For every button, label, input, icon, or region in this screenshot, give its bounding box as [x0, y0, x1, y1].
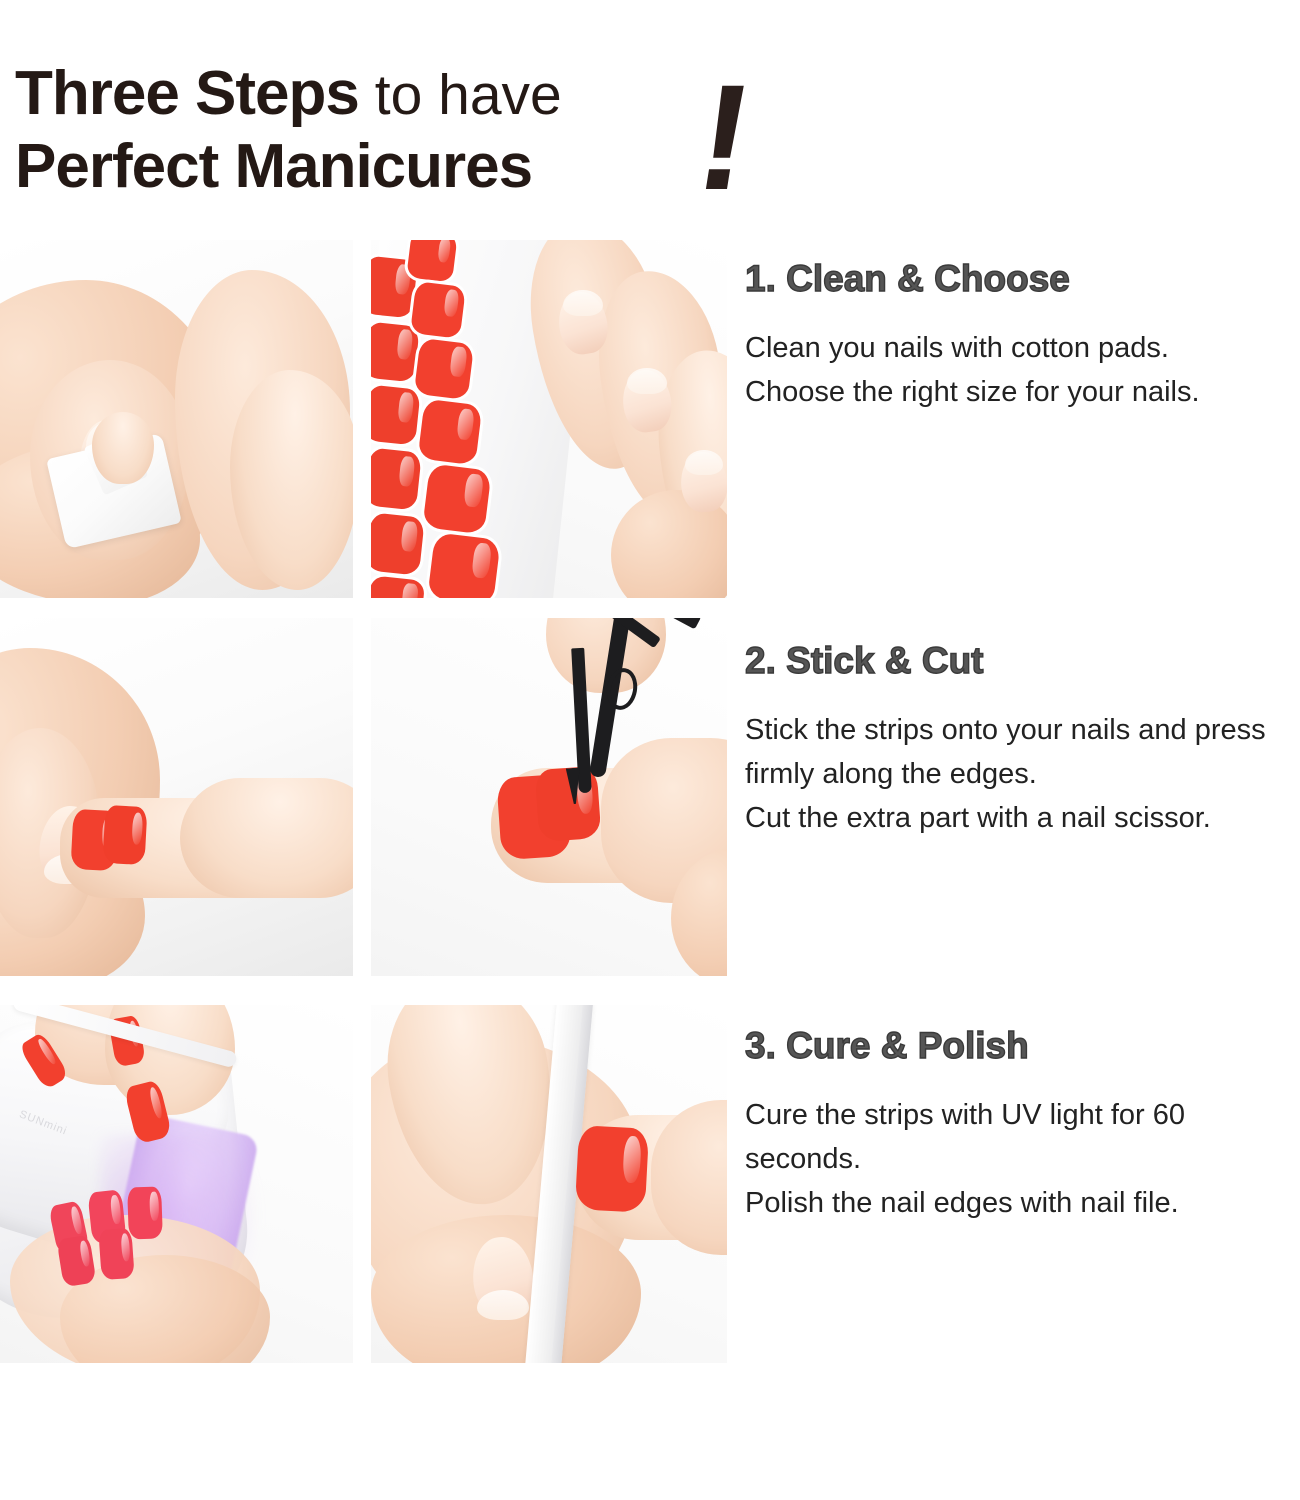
photo-step1-clean-with-cotton-pad: [0, 240, 353, 598]
title-line-1-regular: to have: [359, 63, 562, 127]
step-2-heading: 2. Stick & Cut: [745, 640, 1300, 682]
photo-row-step-3: SUNmini: [0, 1005, 727, 1363]
photo-step2-cut-extra-with-scissor: [371, 618, 727, 976]
title-line-1-bold: Three Steps: [15, 59, 359, 128]
photo-grid: SUNmini: [0, 240, 727, 1360]
photo-step2-stick-strip-on-nail: [0, 618, 353, 976]
title-line-2: Perfect Manicures: [15, 131, 805, 203]
photo-step3-polish-edges-with-file: [371, 1005, 727, 1363]
step-1-body: Clean you nails with cotton pads. Choose…: [745, 326, 1300, 414]
step-2-body: Stick the strips onto your nails and pre…: [745, 708, 1300, 840]
page-title: Three Steps to have Perfect Manicures: [15, 58, 805, 218]
title-line-2-bold: Perfect Manicures: [15, 132, 532, 201]
photo-row-step-1: [0, 240, 727, 598]
photo-step3-cure-under-uv-lamp: SUNmini: [0, 1005, 353, 1363]
step-3-heading: 3. Cure & Polish: [745, 1025, 1300, 1067]
step-2: 2. Stick & Cut Stick the strips onto you…: [745, 640, 1300, 840]
step-3: 3. Cure & Polish Cure the strips with UV…: [745, 1025, 1300, 1225]
photo-step1-choose-strip-size: [371, 240, 727, 598]
step-3-body: Cure the strips with UV light for 60 sec…: [745, 1093, 1300, 1225]
step-1-heading: 1. Clean & Choose: [745, 258, 1300, 300]
title-line-1: Three Steps to have: [15, 58, 805, 131]
photo-row-step-2: [0, 618, 727, 976]
step-1: 1. Clean & Choose Clean you nails with c…: [745, 258, 1300, 414]
